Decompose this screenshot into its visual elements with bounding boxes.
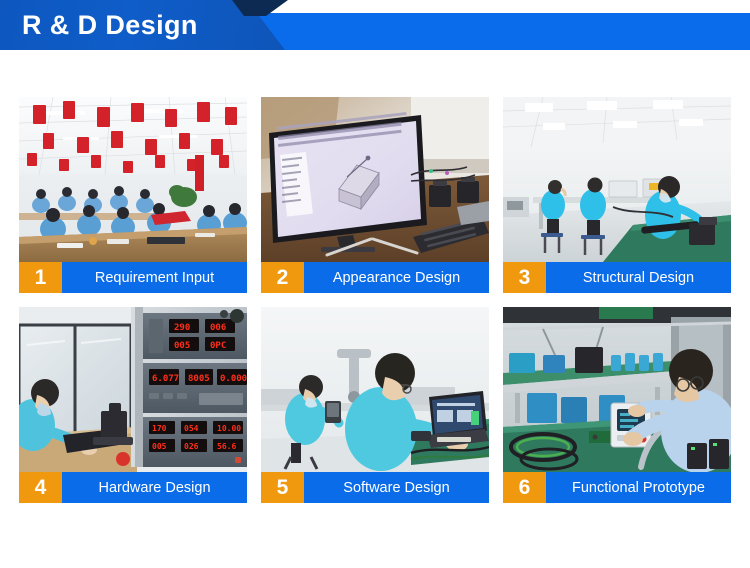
step-number-badge: 2 bbox=[261, 262, 304, 293]
step-number-badge: 3 bbox=[503, 262, 546, 293]
svg-text:0PC: 0PC bbox=[210, 341, 226, 351]
svg-text:054: 054 bbox=[184, 424, 199, 433]
process-step-card[interactable]: 5 Software Design bbox=[261, 307, 489, 503]
step-photo-software-design bbox=[261, 307, 489, 472]
process-step-card[interactable]: 290006 0050PC 6.07780050.000 bbox=[19, 307, 247, 503]
step-label: Functional Prototype bbox=[546, 472, 731, 503]
step-caption: 6 Functional Prototype bbox=[503, 472, 731, 503]
step-caption: 5 Software Design bbox=[261, 472, 489, 503]
step-number-badge: 4 bbox=[19, 472, 62, 503]
process-step-card[interactable]: 6 Functional Prototype bbox=[503, 307, 731, 503]
step-label: Software Design bbox=[304, 472, 489, 503]
step-caption: 2 Appearance Design bbox=[261, 262, 489, 293]
svg-text:005: 005 bbox=[174, 341, 190, 351]
step-label: Hardware Design bbox=[62, 472, 247, 503]
step-photo-structural-design bbox=[503, 97, 731, 262]
step-label: Structural Design bbox=[546, 262, 731, 293]
svg-text:170: 170 bbox=[152, 424, 167, 433]
svg-text:290: 290 bbox=[174, 323, 190, 333]
step-photo-hardware-design: 290006 0050PC 6.07780050.000 bbox=[19, 307, 247, 472]
step-photo-requirement-input bbox=[19, 97, 247, 262]
step-caption: 1 Requirement Input bbox=[19, 262, 247, 293]
page-title: R & D Design bbox=[22, 0, 198, 50]
step-number-badge: 6 bbox=[503, 472, 546, 503]
process-step-card[interactable]: 1 Requirement Input bbox=[19, 97, 247, 293]
step-label: Appearance Design bbox=[304, 262, 489, 293]
process-step-card[interactable]: 2 Appearance Design bbox=[261, 97, 489, 293]
step-caption: 3 Structural Design bbox=[503, 262, 731, 293]
step-number-badge: 1 bbox=[19, 262, 62, 293]
step-number-badge: 5 bbox=[261, 472, 304, 503]
svg-text:56.6: 56.6 bbox=[217, 442, 236, 451]
svg-text:026: 026 bbox=[184, 442, 199, 451]
step-photo-functional-prototype bbox=[503, 307, 731, 472]
svg-text:8005: 8005 bbox=[188, 374, 210, 384]
svg-text:006: 006 bbox=[210, 323, 226, 333]
step-label: Requirement Input bbox=[62, 262, 247, 293]
page-header: R & D Design bbox=[0, 0, 750, 50]
step-caption: 4 Hardware Design bbox=[19, 472, 247, 503]
svg-text:6.077: 6.077 bbox=[152, 374, 179, 384]
svg-text:005: 005 bbox=[152, 442, 167, 451]
svg-text:10.00: 10.00 bbox=[217, 424, 241, 433]
step-photo-appearance-design bbox=[261, 97, 489, 262]
process-step-grid: 1 Requirement Input bbox=[19, 97, 731, 503]
process-step-card[interactable]: 3 Structural Design bbox=[503, 97, 731, 293]
svg-text:0.000: 0.000 bbox=[220, 374, 247, 384]
